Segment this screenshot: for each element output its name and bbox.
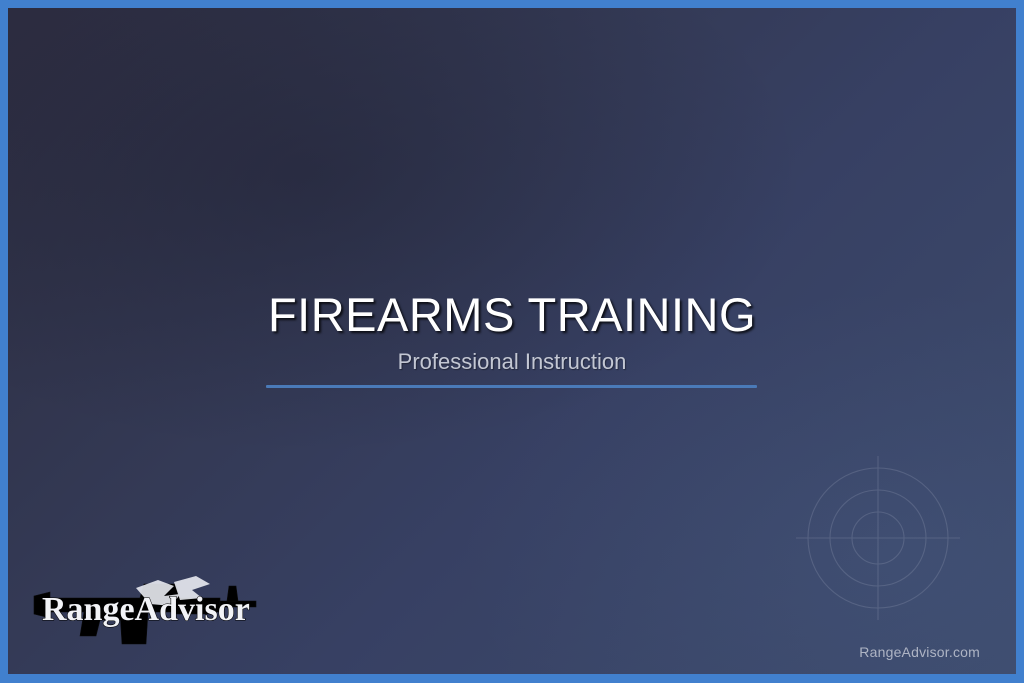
page-subtitle: Professional Instruction (8, 350, 1016, 374)
title-block: FIREARMS TRAINING Professional Instructi… (8, 290, 1016, 374)
footer-url: RangeAdvisor.com (859, 644, 980, 660)
logo-wordmark-text: RangeAdvisor (42, 591, 250, 628)
crosshair-target-icon (796, 456, 960, 620)
accent-rule-divider (266, 385, 757, 388)
brand-logo: RangeAdvisor (24, 558, 264, 650)
presentation-slide: FIREARMS TRAINING Professional Instructi… (0, 0, 1024, 683)
slide-canvas: FIREARMS TRAINING Professional Instructi… (8, 8, 1016, 674)
page-title: FIREARMS TRAINING (8, 290, 1016, 341)
